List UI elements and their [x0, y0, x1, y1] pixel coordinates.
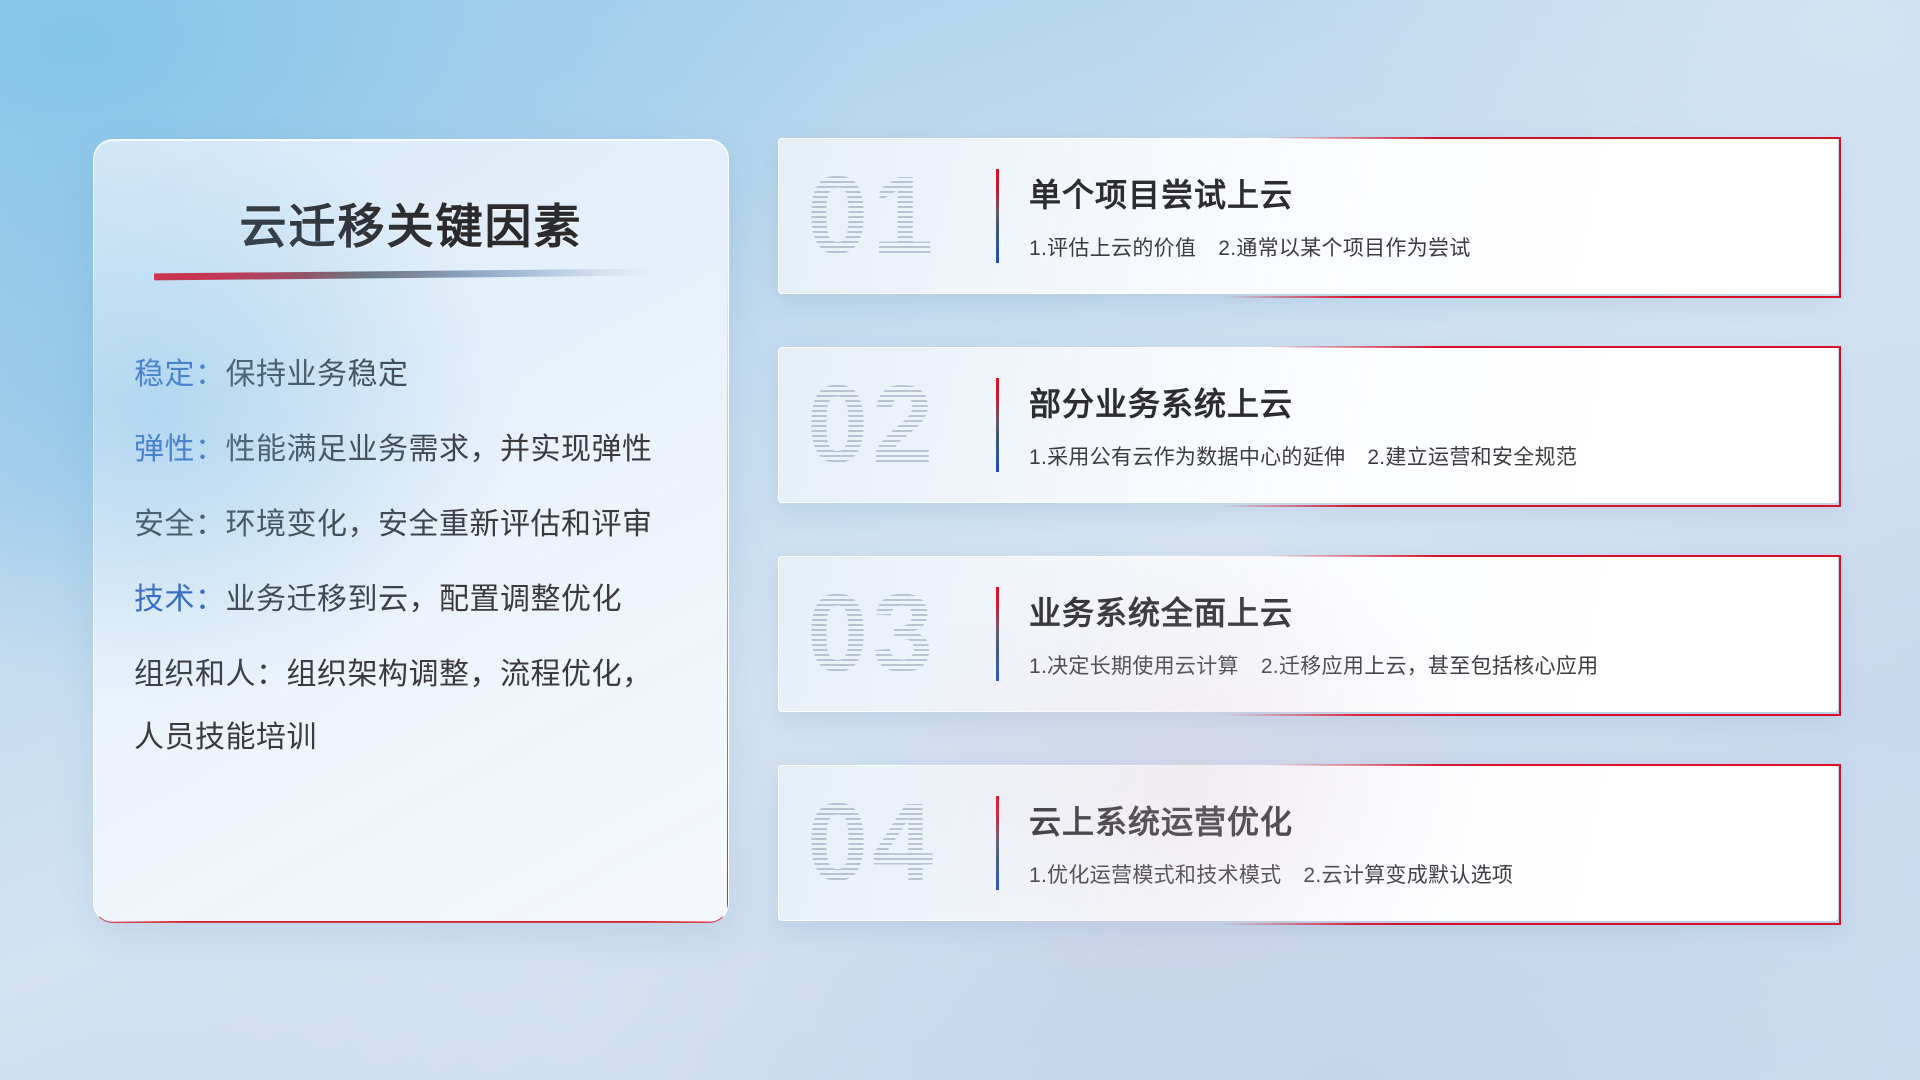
stage-card-title: 云上系统运营优化	[1029, 797, 1807, 843]
stage-card[interactable]: 03 业务系统全面上云 1.决定长期使用云计算2.迁移应用上云，甚至包括核心应用	[778, 556, 1838, 712]
stage-divider-bar	[996, 169, 999, 263]
card-top-accent-line	[1266, 764, 1841, 766]
list-item-key: 稳定：	[134, 358, 226, 391]
stage-number-watermark: 03	[807, 579, 937, 689]
stage-card-surface: 02 部分业务系统上云 1.采用公有云作为数据中心的延伸2.建立运营和安全规范	[778, 347, 1838, 503]
stage-card-points: 1.决定长期使用云计算2.迁移应用上云，甚至包括核心应用	[1029, 650, 1807, 680]
list-item: 稳定：保持业务稳定	[134, 360, 704, 390]
stage-card-points: 1.优化运营模式和技术模式2.云计算变成默认选项	[1029, 859, 1807, 889]
list-item-value: 业务迁移到云，配置调整优化	[226, 583, 623, 616]
stage-card-points: 1.采用公有云作为数据中心的延伸2.建立运营和安全规范	[1029, 441, 1807, 471]
stage-card-surface: 03 业务系统全面上云 1.决定长期使用云计算2.迁移应用上云，甚至包括核心应用	[778, 556, 1838, 712]
list-item-value: 性能满足业务需求，并实现弹性	[226, 433, 653, 466]
card-bottom-accent-line	[1223, 505, 1841, 507]
list-item: 弹性：性能满足业务需求，并实现弹性	[134, 435, 704, 465]
stage-card-points: 1.评估上云的价值2.通常以某个项目作为尝试	[1029, 232, 1807, 262]
stage-card[interactable]: 02 部分业务系统上云 1.采用公有云作为数据中心的延伸2.建立运营和安全规范	[778, 347, 1838, 503]
stage-point-1: 1.采用公有云作为数据中心的延伸	[1029, 446, 1345, 469]
stage-card[interactable]: 01 单个项目尝试上云 1.评估上云的价值2.通常以某个项目作为尝试	[778, 138, 1838, 294]
stage-divider-bar	[996, 378, 999, 472]
card-right-accent-line	[1839, 764, 1841, 925]
stage-card-body: 部分业务系统上云 1.采用公有云作为数据中心的延伸2.建立运营和安全规范	[1029, 348, 1807, 502]
list-item-value: 组织架构调整，流程优化，	[287, 658, 653, 691]
card-right-accent-line	[1839, 555, 1841, 716]
stage-point-2: 2.建立运营和安全规范	[1367, 446, 1577, 469]
slide-canvas: 云迁移关键因素 稳定：保持业务稳定 弹性：性能满足业务需求，并实现弹性 安全：环…	[0, 0, 1920, 1080]
list-item-value: 保持业务稳定	[226, 358, 409, 391]
stage-card-body: 单个项目尝试上云 1.评估上云的价值2.通常以某个项目作为尝试	[1029, 139, 1807, 293]
stage-number-text: 04	[807, 788, 937, 898]
list-item: 安全：环境变化，安全重新评估和评审	[134, 510, 704, 540]
card-bottom-accent-line	[1223, 923, 1841, 925]
stage-card-list: 01 单个项目尝试上云 1.评估上云的价值2.通常以某个项目作为尝试 02	[778, 138, 1838, 974]
key-factors-panel: 云迁移关键因素 稳定：保持业务稳定 弹性：性能满足业务需求，并实现弹性 安全：环…	[93, 139, 729, 923]
card-bottom-accent-line	[1223, 714, 1841, 716]
stage-point-1: 1.决定长期使用云计算	[1029, 655, 1239, 678]
list-item: 组织和人：组织架构调整，流程优化，	[134, 660, 704, 690]
stage-point-2: 2.通常以某个项目作为尝试	[1218, 237, 1470, 260]
card-top-accent-line	[1266, 137, 1841, 139]
card-right-accent-line	[1839, 346, 1841, 507]
stage-number-text: 01	[807, 161, 937, 271]
card-bottom-accent-line	[1223, 296, 1841, 298]
stage-card-surface: 01 单个项目尝试上云 1.评估上云的价值2.通常以某个项目作为尝试	[778, 138, 1838, 294]
stage-number-watermark: 02	[807, 370, 937, 480]
stage-number-text: 02	[807, 370, 937, 480]
stage-number-text: 03	[807, 579, 937, 689]
stage-divider-bar	[996, 587, 999, 681]
list-item-key: 安全：	[134, 508, 226, 541]
list-item-value: 环境变化，安全重新评估和评审	[226, 508, 653, 541]
stage-card-title: 业务系统全面上云	[1029, 588, 1807, 634]
card-top-accent-line	[1266, 555, 1841, 557]
stage-number-watermark: 04	[807, 788, 937, 898]
title-underline-rule	[154, 269, 654, 281]
stage-point-2: 2.云计算变成默认选项	[1303, 864, 1513, 887]
list-item: 技术：业务迁移到云，配置调整优化	[134, 585, 704, 615]
card-right-accent-line	[1839, 137, 1841, 298]
stage-card-title: 部分业务系统上云	[1029, 379, 1807, 425]
stage-card[interactable]: 04 云上系统运营优化 1.优化运营模式和技术模式2.云计算变成默认选项	[778, 765, 1838, 921]
list-item-continuation: 人员技能培训	[134, 723, 704, 753]
stage-card-title: 单个项目尝试上云	[1029, 170, 1807, 216]
stage-point-2: 2.迁移应用上云，甚至包括核心应用	[1261, 655, 1599, 678]
list-item-key: 组织和人：	[134, 658, 287, 691]
list-item-key: 技术：	[134, 583, 226, 616]
key-factors-list: 稳定：保持业务稳定 弹性：性能满足业务需求，并实现弹性 安全：环境变化，安全重新…	[134, 360, 704, 798]
stage-card-surface: 04 云上系统运营优化 1.优化运营模式和技术模式2.云计算变成默认选项	[778, 765, 1838, 921]
list-item-key: 弹性：	[134, 433, 226, 466]
stage-card-body: 业务系统全面上云 1.决定长期使用云计算2.迁移应用上云，甚至包括核心应用	[1029, 557, 1807, 711]
stage-point-1: 1.评估上云的价值	[1029, 237, 1196, 260]
list-item-value: 人员技能培训	[134, 721, 317, 754]
stage-card-body: 云上系统运营优化 1.优化运营模式和技术模式2.云计算变成默认选项	[1029, 766, 1807, 920]
stage-divider-bar	[996, 796, 999, 890]
card-top-accent-line	[1266, 346, 1841, 348]
stage-point-1: 1.优化运营模式和技术模式	[1029, 864, 1281, 887]
page-title: 云迁移关键因素	[94, 188, 728, 257]
stage-number-watermark: 01	[807, 161, 937, 271]
